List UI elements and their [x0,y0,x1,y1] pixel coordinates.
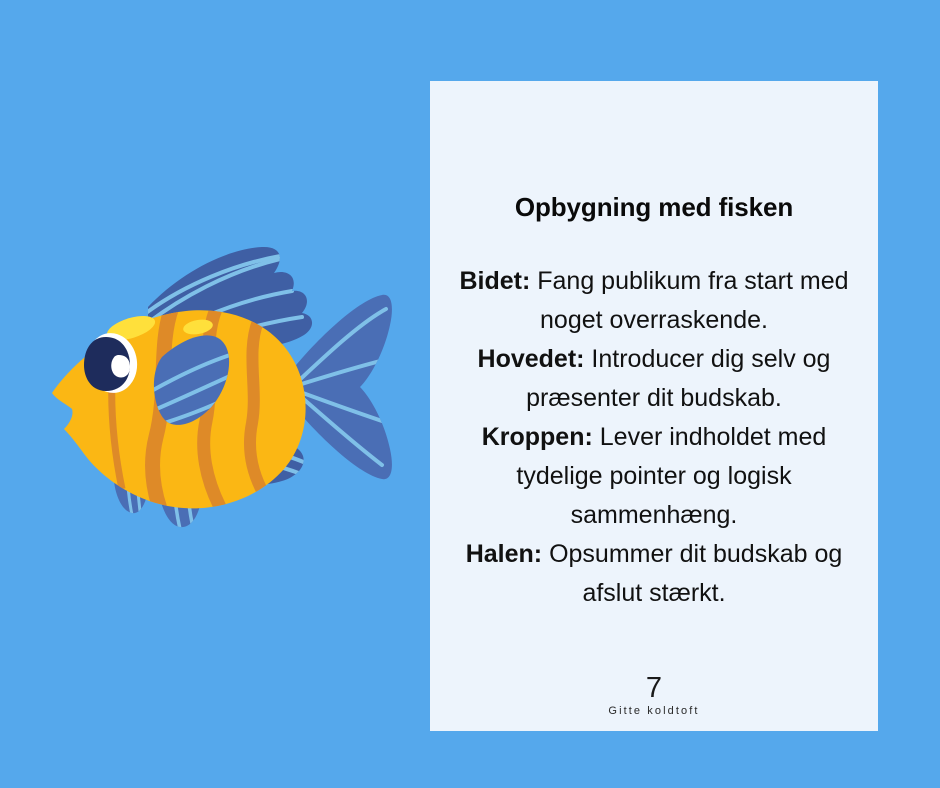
tropical-fish-illustration [30,225,420,555]
card-footer: 7 Gitte koldtoft [430,673,878,717]
section-halen: Halen: Opsummer dit budskab og afslut st… [448,535,860,613]
section-kroppen-label: Kroppen: [482,423,593,451]
section-bidet-label: Bidet: [459,267,530,295]
section-halen-label: Halen: [466,540,542,568]
fish-body [52,307,306,509]
fish-structure-body-text: Bidet: Fang publikum fra start med noget… [448,262,860,613]
slide-canvas: Opbygning med fisken Bidet: Fang publiku… [0,0,940,788]
section-halen-text: Opsummer dit budskab og afslut stærkt. [542,540,842,607]
author-credit: Gitte koldtoft [430,705,878,717]
section-hovedet: Hovedet: Introducer dig selv og præsente… [448,340,860,418]
section-kroppen: Kroppen: Lever indholdet med tydelige po… [448,418,860,535]
page-title: Opbygning med fisken [430,192,878,223]
content-card: Opbygning med fisken Bidet: Fang publiku… [430,81,878,731]
section-hovedet-label: Hovedet: [478,345,585,373]
section-bidet-text: Fang publikum fra start med noget overra… [530,267,848,334]
section-bidet: Bidet: Fang publikum fra start med noget… [448,262,860,340]
page-number: 7 [430,673,878,703]
